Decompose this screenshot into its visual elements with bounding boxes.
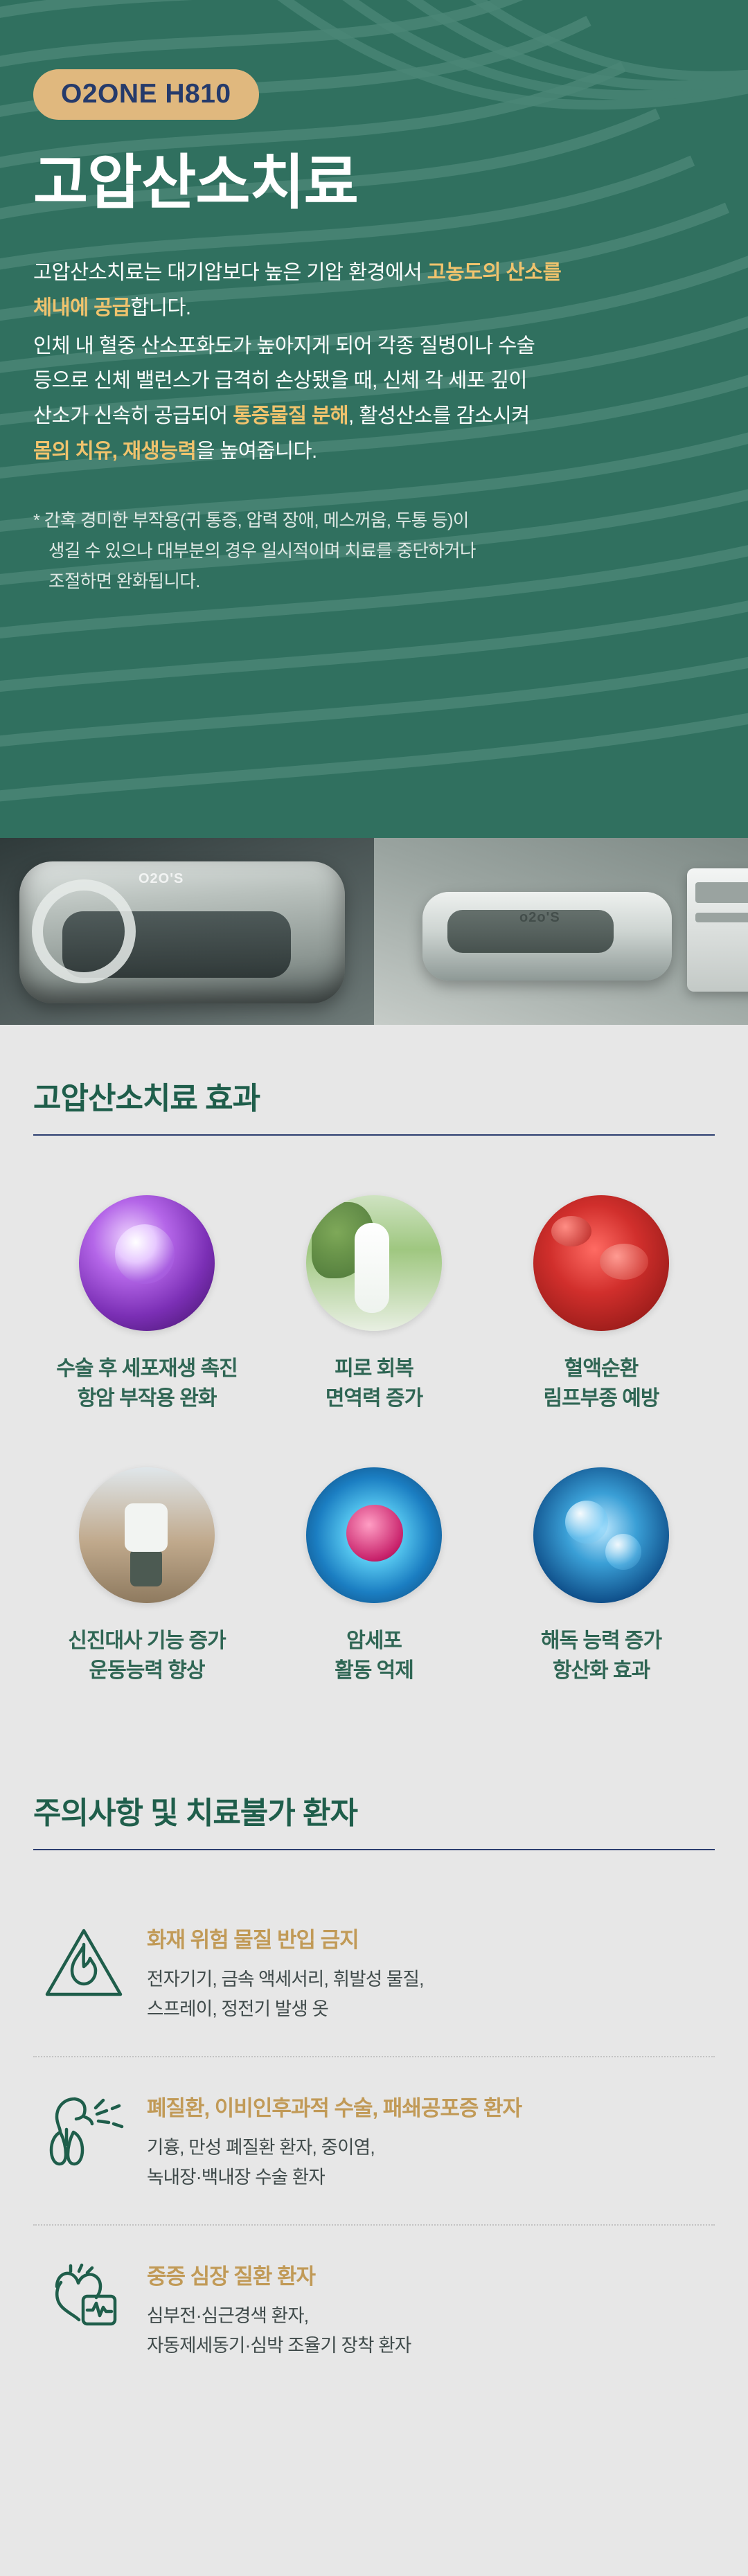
hero-p1-text-b: 합니다.: [130, 296, 190, 319]
effect-item: 혈액순환 림프부종 예방: [488, 1195, 715, 1413]
effect-item: 피로 회복 면역력 증가: [260, 1195, 488, 1413]
page-title: 고압산소치료: [33, 149, 715, 217]
cautions-heading-rule: [33, 1849, 715, 1850]
hero-p1-highlight-1: 고농도의 산소를: [427, 261, 561, 284]
cautions-section: 주의사항 및 치료불가 환자 화재 위험 물질 반입 금지 전자기기, 금속 액…: [0, 1739, 748, 2455]
effects-grid: 수술 후 세포재생 촉진 항암 부작용 완화 피로 회복 면역력 증가 혈액순환…: [33, 1195, 715, 1739]
chamber-logo-right: o2o'S: [519, 910, 560, 926]
hero-p1-highlight-2: 체내에 공급: [33, 296, 130, 319]
caution-desc-line-2: 스프레이, 정전기 발생 옷: [147, 1998, 328, 2019]
blood-circulation-icon: [533, 1195, 669, 1331]
detox-icon: [533, 1467, 669, 1603]
fatigue-recovery-icon: [306, 1195, 442, 1331]
effect-caption: 해독 능력 증가 항산화 효과: [488, 1627, 715, 1685]
effect-caption-line-2: 림프부종 예방: [544, 1387, 659, 1410]
lung-disease-icon: [43, 2089, 147, 2171]
caution-title: 중증 심장 질환 환자: [147, 2259, 715, 2290]
effects-section: 고압산소치료 효과 수술 후 세포재생 촉진 항암 부작용 완화 피로 회복 면…: [0, 1025, 748, 1739]
hero-p2-line-1: 인체 내 혈중 산소포화도가 높아지게 되어 각종 질병이나 수술: [33, 334, 535, 357]
caution-item: 중증 심장 질환 환자 심부전·심근경색 환자, 자동제세동기·심박 조율기 장…: [33, 2224, 715, 2392]
effect-caption: 혈액순환 림프부종 예방: [488, 1354, 715, 1413]
effects-heading: 고압산소치료 효과: [33, 1025, 715, 1118]
effect-item: 수술 후 세포재생 촉진 항암 부작용 완화: [33, 1195, 260, 1413]
caution-text: 중증 심장 질환 환자 심부전·심근경색 환자, 자동제세동기·심박 조율기 장…: [147, 2257, 715, 2361]
fire-hazard-icon: [43, 1921, 147, 2000]
product-badge: O2ONE H810: [33, 69, 259, 120]
hero-p1-text-a: 고압산소치료는 대기압보다 높은 기압 환경에서: [33, 261, 427, 284]
heart-disease-icon: [43, 2257, 147, 2334]
effect-item: 신진대사 기능 증가 운동능력 향상: [33, 1467, 260, 1685]
control-unit-vent: [695, 913, 748, 922]
effect-caption-line-1: 수술 후 세포재생 촉진: [56, 1357, 237, 1380]
hero-p2-line-3a: 산소가 신속히 공급되어: [33, 404, 233, 427]
hero-p2-line-4b: 을 높여줍니다.: [196, 440, 317, 463]
cautions-heading: 주의사항 및 치료불가 환자: [33, 1739, 715, 1832]
chamber-photo-right: o2o'S: [374, 838, 748, 1025]
effect-item: 해독 능력 증가 항산화 효과: [488, 1467, 715, 1685]
page-root: O2ONE H810 고압산소치료 고압산소치료는 대기압보다 높은 기압 환경…: [0, 0, 748, 2576]
chamber-door-ring: [32, 879, 136, 983]
caution-title: 폐질환, 이비인후과적 수술, 패쇄공포증 환자: [147, 2091, 715, 2122]
caution-description: 전자기기, 금속 액세서리, 휘발성 물질, 스프레이, 정전기 발생 옷: [147, 1965, 715, 2024]
effect-caption-line-2: 면역력 증가: [326, 1387, 422, 1410]
effect-caption-line-2: 운동능력 향상: [89, 1659, 205, 1682]
caution-description: 심부전·심근경색 환자, 자동제세동기·심박 조율기 장착 환자: [147, 2301, 715, 2361]
cautions-list: 화재 위험 물질 반입 금지 전자기기, 금속 액세서리, 휘발성 물질, 스프…: [33, 1889, 715, 2455]
effect-caption: 피로 회복 면역력 증가: [260, 1354, 488, 1413]
caution-desc-line-2: 녹내장·백내장 수술 환자: [147, 2167, 325, 2188]
caution-item: 폐질환, 이비인후과적 수술, 패쇄공포증 환자 기흉, 만성 폐질환 환자, …: [33, 2056, 715, 2224]
hero-p2-highlight-2: 몸의 치유, 재생능력: [33, 440, 196, 463]
caution-desc-line-1: 심부전·심근경색 환자,: [147, 2305, 308, 2326]
effect-caption-line-2: 항산화 효과: [553, 1659, 650, 1682]
control-unit: [687, 868, 748, 992]
hero-p2-highlight-1: 통증물질 분해: [233, 404, 348, 427]
product-photo-strip: O2O'S o2o'S: [0, 838, 748, 1025]
caution-text: 폐질환, 이비인후과적 수술, 패쇄공포증 환자 기흉, 만성 폐질환 환자, …: [147, 2089, 715, 2192]
hero-note-line-2: 생길 수 있으나 대부분의 경우 일시적이며 치료를 중단하거나: [33, 537, 715, 567]
caution-text: 화재 위험 물질 반입 금지 전자기기, 금속 액세서리, 휘발성 물질, 스프…: [147, 1921, 715, 2024]
effect-caption-line-1: 해독 능력 증가: [541, 1629, 661, 1652]
hero-p2-line-3b: , 활성산소를 감소시켜: [348, 404, 530, 427]
cancer-cell-icon: [306, 1467, 442, 1603]
hero-p2-line-2: 등으로 신체 밸런스가 급격히 손상됐을 때, 신체 각 세포 깊이: [33, 369, 527, 392]
caution-item: 화재 위험 물질 반입 금지 전자기기, 금속 액세서리, 휘발성 물질, 스프…: [33, 1889, 715, 2056]
chamber-logo-left: O2O'S: [139, 871, 184, 887]
effect-caption-line-1: 피로 회복: [335, 1357, 413, 1380]
effect-caption: 암세포 활동 억제: [260, 1627, 488, 1685]
chamber-photo-left: O2O'S: [0, 838, 374, 1025]
control-unit-display: [695, 882, 748, 903]
caution-desc-line-1: 전자기기, 금속 액세서리, 휘발성 물질,: [147, 1969, 424, 1989]
effects-heading-rule: [33, 1134, 715, 1136]
hero-note-line-1: * 간혹 경미한 부작용(귀 통증, 압력 장애, 메스꺼움, 두통 등)이: [33, 511, 469, 530]
hero-description: 고압산소치료는 대기압보다 높은 기압 환경에서 고농도의 산소를 체내에 공급…: [33, 256, 715, 469]
effect-caption-line-1: 혈액순환: [564, 1357, 638, 1380]
hero-side-effect-note: * 간혹 경미한 부작용(귀 통증, 압력 장애, 메스꺼움, 두통 등)이 생…: [33, 506, 715, 598]
hero-section: O2ONE H810 고압산소치료 고압산소치료는 대기압보다 높은 기압 환경…: [0, 0, 748, 838]
effect-caption-line-1: 신진대사 기능 증가: [68, 1629, 225, 1652]
hero-paragraph-2: 인체 내 혈중 산소포화도가 높아지게 되어 각종 질병이나 수술 등으로 신체…: [33, 329, 715, 469]
metabolism-icon: [79, 1467, 215, 1603]
hero-note-line-3: 조절하면 완화됩니다.: [33, 567, 715, 598]
effect-item: 암세포 활동 억제: [260, 1467, 488, 1685]
effect-caption-line-2: 활동 억제: [335, 1659, 413, 1682]
caution-description: 기흉, 만성 폐질환 환자, 중이염, 녹내장·백내장 수술 환자: [147, 2133, 715, 2192]
effect-caption: 수술 후 세포재생 촉진 항암 부작용 완화: [33, 1354, 260, 1413]
caution-title: 화재 위험 물질 반입 금지: [147, 1922, 715, 1953]
effect-caption-line-1: 암세포: [346, 1629, 402, 1652]
caution-desc-line-1: 기흉, 만성 폐질환 환자, 중이염,: [147, 2137, 375, 2158]
hero-paragraph-1: 고압산소치료는 대기압보다 높은 기압 환경에서 고농도의 산소를 체내에 공급…: [33, 256, 715, 325]
caution-desc-line-2: 자동제세동기·심박 조율기 장착 환자: [147, 2335, 411, 2356]
effect-caption: 신진대사 기능 증가 운동능력 향상: [33, 1627, 260, 1685]
chamber-body-right: [422, 892, 672, 981]
effect-caption-line-2: 항암 부작용 완화: [78, 1387, 217, 1410]
cell-regeneration-icon: [79, 1195, 215, 1331]
